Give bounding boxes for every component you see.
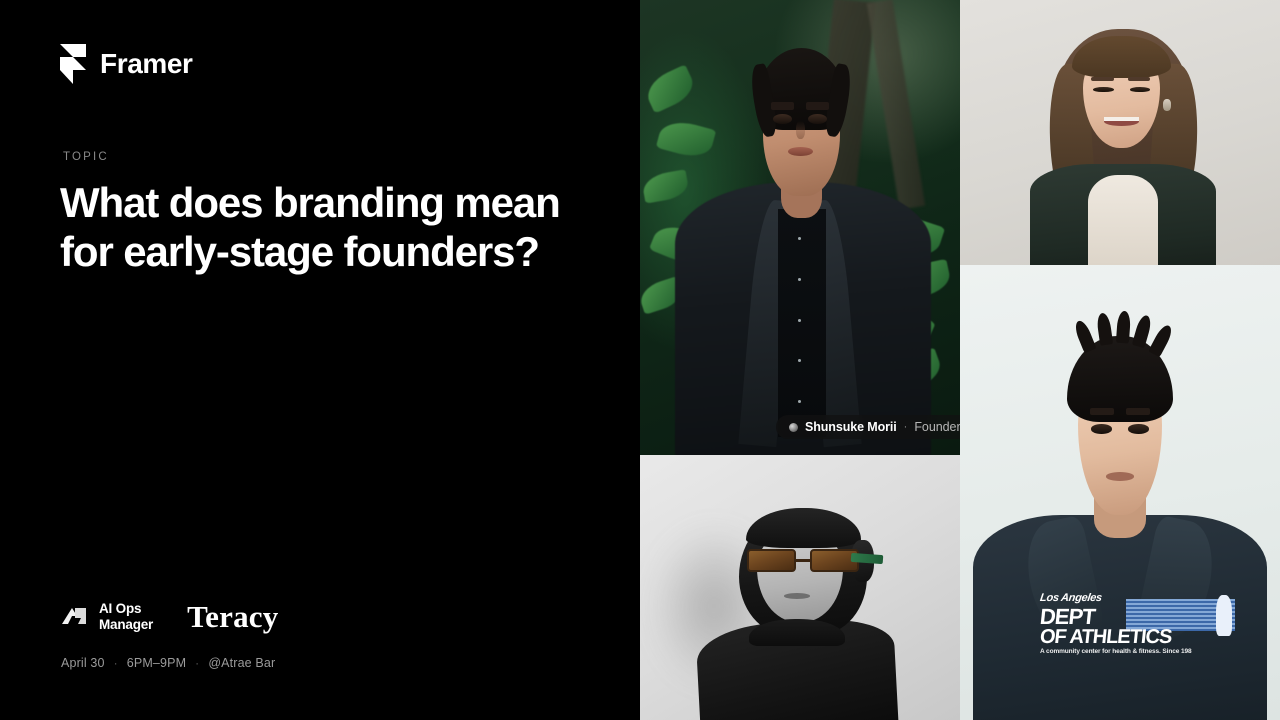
headline-line-1: What does branding mean [60, 178, 620, 227]
event-meta: April 30 · 6PM–9PM · @Atrae Bar [61, 656, 275, 670]
topic-label: TOPIC [63, 151, 109, 163]
name-badge-morii: Shunsuke Morii · Founder [776, 415, 960, 439]
partner-ai-ops-manager-label: AI Ops Manager [99, 601, 153, 633]
meta-separator-2: · [195, 656, 199, 670]
badge-separator: · [904, 422, 908, 433]
hoodie-print-line-3: OF ATHLETICS [1039, 627, 1207, 647]
photo-image-asano: Los Angeles DEPT OF ATHLETICS A communit… [960, 265, 1280, 720]
speaker-photo-shimizu[interactable]: Yuya Shimizu · Lead Designer [640, 455, 960, 720]
speaker-role: Founder [914, 421, 960, 434]
ai-ops-manager-logo-icon [60, 602, 90, 632]
partner-ai-ops-manager: AI Ops Manager [60, 601, 153, 633]
speaker-photo-okayu[interactable]: Okayu · Lead Designer [960, 0, 1280, 265]
brand-lockup: Framer [60, 44, 193, 84]
partner-teracy-label: Teracy [187, 601, 278, 632]
photo-image-okayu [960, 0, 1280, 265]
photo-image-shimizu [640, 455, 960, 720]
ai-ops-line-2: Manager [99, 617, 153, 633]
partner-logos: AI Ops Manager Teracy [60, 601, 278, 633]
speaker-photo-asano[interactable]: Los Angeles DEPT OF ATHLETICS A communit… [960, 265, 1280, 720]
page-title: What does branding mean for early-stage … [60, 178, 620, 276]
brand-name: Framer [100, 50, 193, 78]
meta-separator-1: · [114, 656, 118, 670]
event-poster: Framer TOPIC What does branding mean for… [0, 0, 1280, 720]
event-time: 6PM–9PM [127, 656, 186, 670]
event-venue: @Atrae Bar [208, 656, 275, 670]
hoodie-print-line-4: A community center for health & fitness.… [1040, 649, 1206, 656]
event-date: April 30 [61, 656, 105, 670]
headline-line-2: for early-stage founders? [60, 227, 620, 276]
speaker-photo-morii[interactable]: Shunsuke Morii · Founder [640, 0, 960, 455]
ai-ops-line-1: AI Ops [99, 601, 153, 617]
left-content-panel: Framer TOPIC What does branding mean for… [0, 0, 640, 720]
photo-image-morii [640, 0, 960, 455]
hoodie-print: Los Angeles DEPT OF ATHLETICS A communit… [1040, 593, 1206, 693]
badge-avatar-dot-icon [789, 423, 798, 432]
hoodie-print-line-2: DEPT [1039, 606, 1208, 628]
speaker-photo-grid: Shunsuke Morii · Founder [640, 0, 1280, 720]
speaker-name: Shunsuke Morii [805, 421, 897, 434]
hoodie-print-line-1: Los Angeles [1039, 593, 1207, 604]
framer-logo-icon [60, 44, 86, 84]
